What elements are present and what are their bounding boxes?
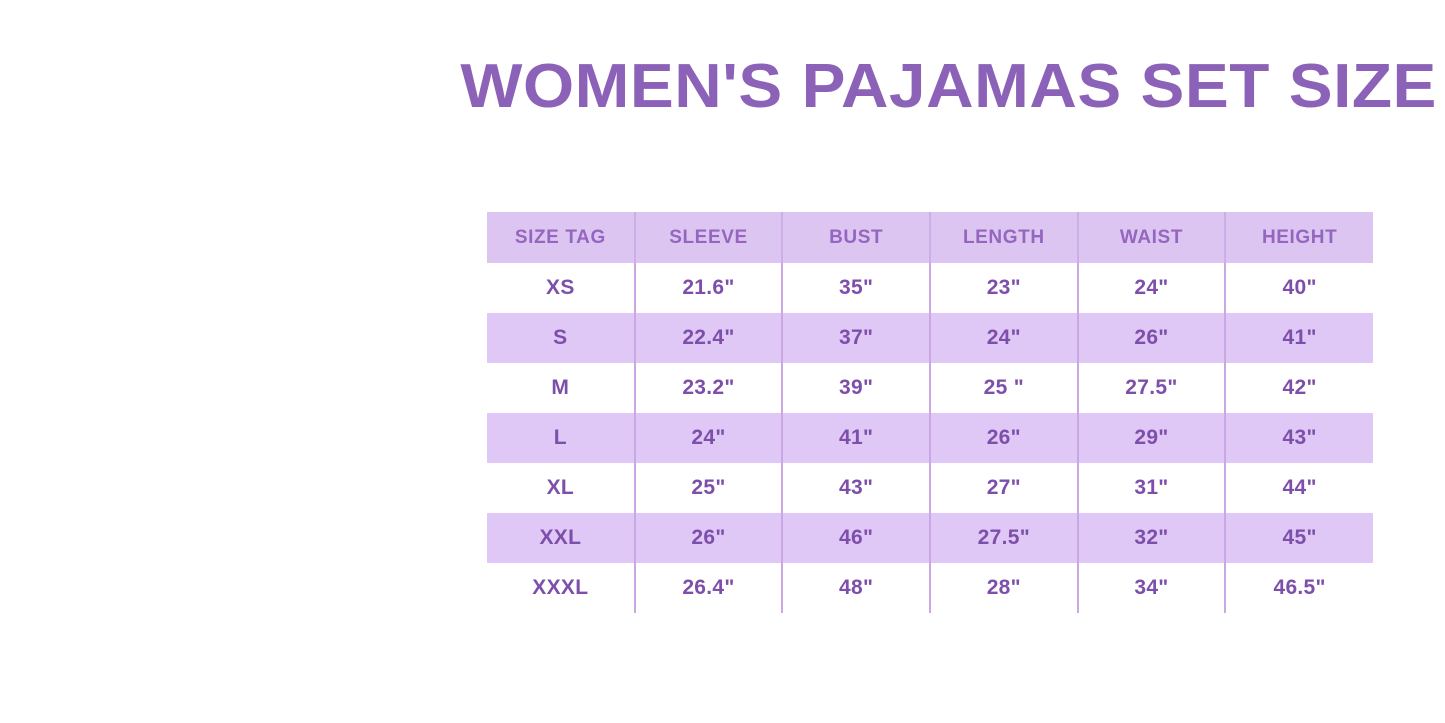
table-body: XS 21.6" 35" 23" 24" 40" S 22.4" 37" 24"… <box>487 263 1373 613</box>
table-row: L 24" 41" 26" 29" 43" <box>487 413 1373 463</box>
cell-length: 24" <box>930 313 1078 363</box>
column-header-size-tag: SIZE TAG <box>487 212 635 263</box>
cell-size-tag: XXXL <box>487 563 635 613</box>
cell-length: 27.5" <box>930 513 1078 563</box>
cell-sleeve: 26" <box>635 513 783 563</box>
cell-length: 23" <box>930 263 1078 313</box>
cell-waist: 27.5" <box>1078 363 1226 413</box>
cell-size-tag: S <box>487 313 635 363</box>
cell-waist: 31" <box>1078 463 1226 513</box>
cell-length: 25 " <box>930 363 1078 413</box>
cell-waist: 24" <box>1078 263 1226 313</box>
cell-height: 46.5" <box>1225 563 1373 613</box>
cell-length: 28" <box>930 563 1078 613</box>
table-row: XXL 26" 46" 27.5" 32" 45" <box>487 513 1373 563</box>
cell-height: 43" <box>1225 413 1373 463</box>
table-header: SIZE TAG SLEEVE BUST LENGTH WAIST HEIGHT <box>487 212 1373 263</box>
cell-size-tag: XXL <box>487 513 635 563</box>
column-header-height: HEIGHT <box>1225 212 1373 263</box>
cell-waist: 29" <box>1078 413 1226 463</box>
table-row: XS 21.6" 35" 23" 24" 40" <box>487 263 1373 313</box>
cell-bust: 41" <box>782 413 930 463</box>
cell-sleeve: 25" <box>635 463 783 513</box>
cell-height: 44" <box>1225 463 1373 513</box>
size-chart-page: WOMEN'S PAJAMAS SET SIZE CHART SIZE TAG … <box>0 0 1445 723</box>
size-chart-table: SIZE TAG SLEEVE BUST LENGTH WAIST HEIGHT… <box>487 212 1373 613</box>
table-header-row: SIZE TAG SLEEVE BUST LENGTH WAIST HEIGHT <box>487 212 1373 263</box>
cell-waist: 34" <box>1078 563 1226 613</box>
table-row: XXXL 26.4" 48" 28" 34" 46.5" <box>487 563 1373 613</box>
column-header-waist: WAIST <box>1078 212 1226 263</box>
page-title: WOMEN'S PAJAMAS SET SIZE CHART <box>460 52 1399 122</box>
cell-height: 41" <box>1225 313 1373 363</box>
cell-sleeve: 23.2" <box>635 363 783 413</box>
column-header-length: LENGTH <box>930 212 1078 263</box>
cell-bust: 48" <box>782 563 930 613</box>
cell-bust: 39" <box>782 363 930 413</box>
cell-size-tag: M <box>487 363 635 413</box>
column-header-sleeve: SLEEVE <box>635 212 783 263</box>
cell-size-tag: XS <box>487 263 635 313</box>
cell-length: 26" <box>930 413 1078 463</box>
column-header-bust: BUST <box>782 212 930 263</box>
cell-bust: 35" <box>782 263 930 313</box>
cell-sleeve: 26.4" <box>635 563 783 613</box>
cell-bust: 43" <box>782 463 930 513</box>
cell-sleeve: 22.4" <box>635 313 783 363</box>
cell-length: 27" <box>930 463 1078 513</box>
cell-waist: 26" <box>1078 313 1226 363</box>
cell-waist: 32" <box>1078 513 1226 563</box>
cell-height: 45" <box>1225 513 1373 563</box>
cell-size-tag: XL <box>487 463 635 513</box>
cell-size-tag: L <box>487 413 635 463</box>
cell-sleeve: 21.6" <box>635 263 783 313</box>
table-row: XL 25" 43" 27" 31" 44" <box>487 463 1373 513</box>
table-row: S 22.4" 37" 24" 26" 41" <box>487 313 1373 363</box>
cell-bust: 37" <box>782 313 930 363</box>
cell-height: 40" <box>1225 263 1373 313</box>
cell-sleeve: 24" <box>635 413 783 463</box>
cell-height: 42" <box>1225 363 1373 413</box>
table-row: M 23.2" 39" 25 " 27.5" 42" <box>487 363 1373 413</box>
cell-bust: 46" <box>782 513 930 563</box>
